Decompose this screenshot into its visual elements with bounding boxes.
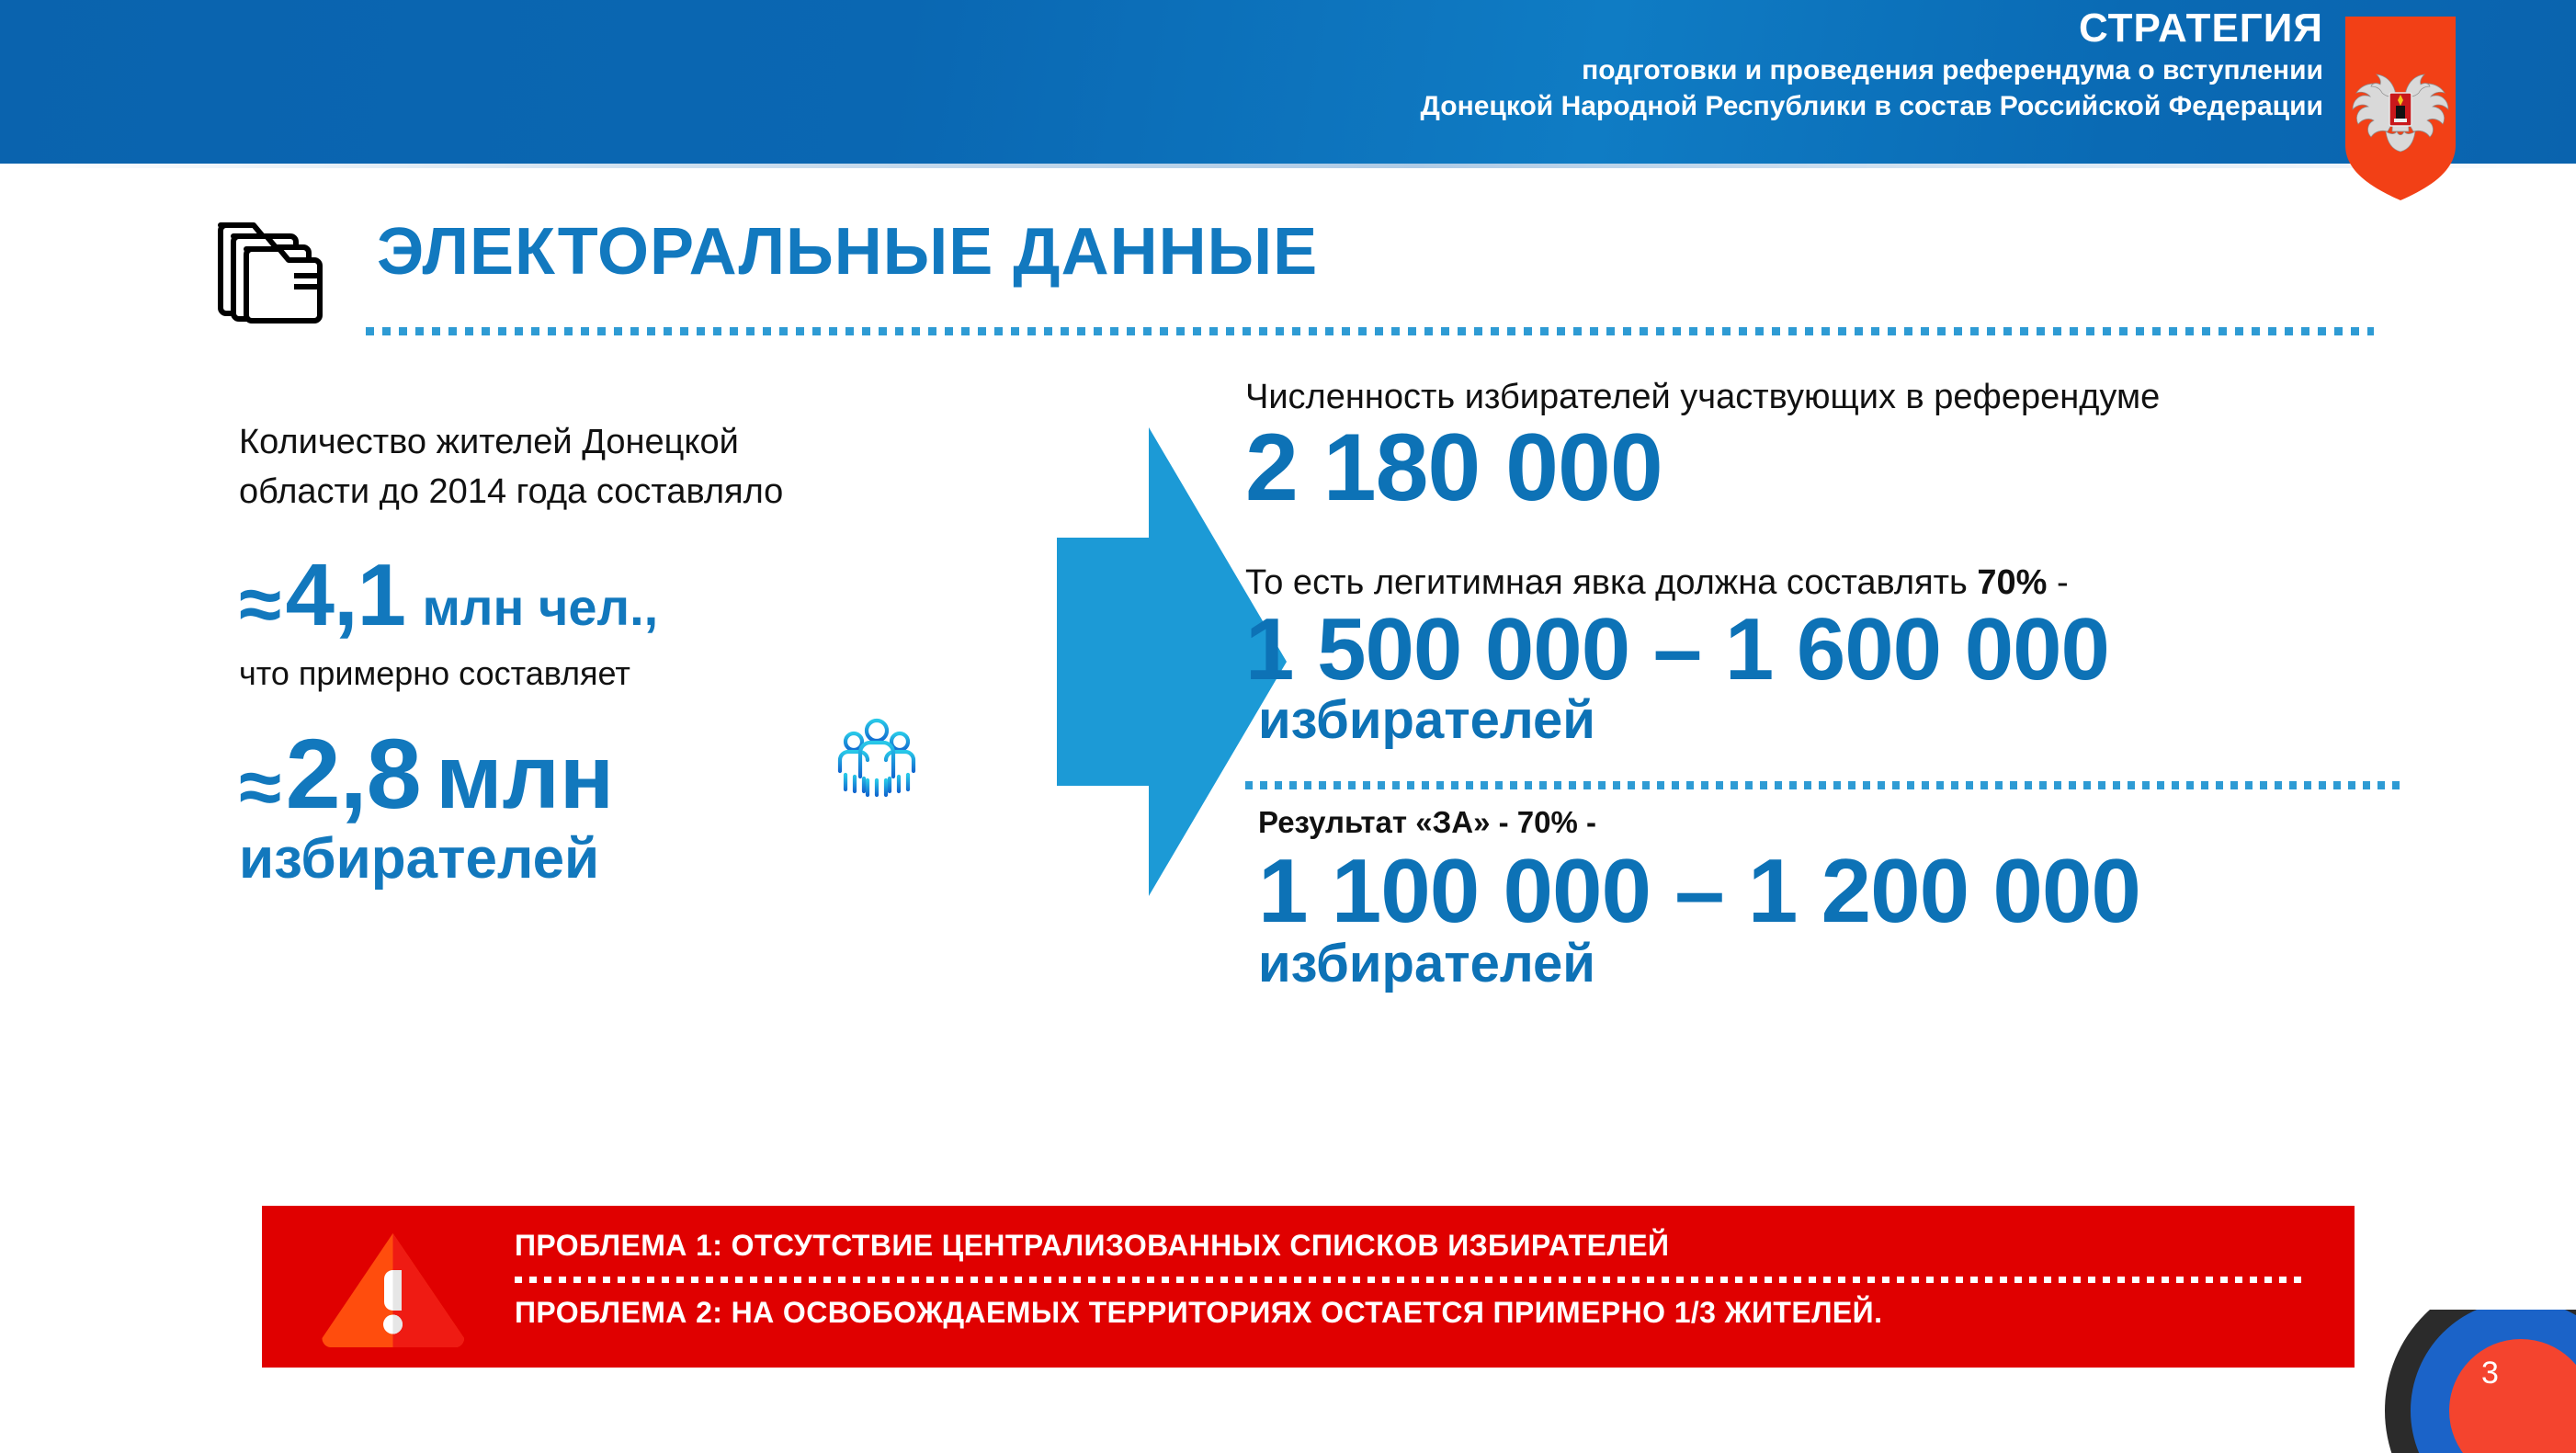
left-mid-text: что примерно составляет: [239, 653, 1011, 696]
result-za-label: Результат «ЗА» - 70% -: [1245, 804, 2412, 841]
problems-banner-body: ПРОБЛЕМА 1: ОТСУТСТВИЕ ЦЕНТРАЛИЗОВАННЫХ …: [515, 1226, 2316, 1333]
header-underline: [0, 164, 2576, 168]
right-block-3: Результат «ЗА» - 70% - 1 100 000 – 1 200…: [1245, 804, 2412, 993]
title-divider: [366, 327, 2374, 335]
left-column: Количество жителей Донецкой области до 2…: [239, 418, 1011, 891]
page-number-badge: [2383, 1310, 2576, 1453]
header-text-block: СТРАТЕГИЯ подготовки и проведения рефере…: [1037, 7, 2323, 124]
header-subtitle-line2: Донецкой Народной Республики в состав Ро…: [1037, 89, 2323, 124]
approx-symbol: ≈: [239, 561, 281, 647]
turnout-total-label: Численность избирателей участвующих в ре…: [1245, 377, 2412, 419]
header-subtitle-line1: подготовки и проведения референдума о вс…: [1037, 53, 2323, 88]
legit-turnout-label-prefix: То есть легитимная явка должна составлят…: [1245, 563, 1977, 602]
right-column: Численность избирателей участвующих в ре…: [1245, 377, 2412, 993]
dnr-coat-of-arms-icon: [2345, 17, 2456, 200]
problems-banner: ПРОБЛЕМА 1: ОТСУТСТВИЕ ЦЕНТРАЛИЗОВАННЫХ …: [262, 1206, 2355, 1368]
three-people-icon: [834, 714, 919, 799]
legit-turnout-value: 1 500 000 – 1 600 000: [1245, 601, 2412, 698]
population-stat: ≈ 4,1 млн чел.,: [239, 545, 1011, 649]
right-block-2: То есть легитимная явка должна составлят…: [1245, 562, 2412, 750]
page-title: ЭЛЕКТОРАЛЬНЫЕ ДАННЫЕ: [377, 214, 1318, 289]
voters-value: 2,8: [286, 718, 421, 829]
folders-icon: [213, 209, 325, 328]
population-unit: млн чел.,: [422, 578, 658, 636]
spacer-1: [1245, 520, 2412, 562]
turnout-total-value: 2 180 000: [1245, 415, 2412, 520]
legit-turnout-label-suffix: -: [2047, 563, 2068, 602]
left-lead-line2: области до 2014 года составляло: [239, 468, 1011, 517]
approx-symbol-2: ≈: [239, 744, 281, 830]
header-title: СТРАТЕГИЯ: [1037, 7, 2323, 50]
right-column-divider: [1245, 781, 2405, 789]
warning-triangle-icon: [317, 1230, 469, 1347]
problem-2-text: ПРОБЛЕМА 2: НА ОСВОБОЖДАЕМЫХ ТЕРРИТОРИЯХ…: [515, 1293, 2316, 1333]
legit-turnout-percent: 70%: [1977, 563, 2047, 602]
left-lead-text: Количество жителей Донецкой области до 2…: [239, 418, 1011, 517]
problem-1-text: ПРОБЛЕМА 1: ОТСУТСТВИЕ ЦЕНТРАЛИЗОВАННЫХ …: [515, 1226, 2316, 1266]
page-number: 3: [2481, 1356, 2499, 1391]
slide-title-row: ЭЛЕКТОРАЛЬНЫЕ ДАННЫЕ: [0, 198, 2576, 335]
right-block-1: Численность избирателей участвующих в ре…: [1245, 377, 2412, 520]
legit-turnout-label: То есть легитимная явка должна составлят…: [1245, 562, 2412, 605]
left-voters-label: избирателей: [239, 828, 1011, 891]
banner-divider: [515, 1277, 2307, 1283]
result-za-units: избирателей: [1245, 936, 2412, 993]
left-lead-line1: Количество жителей Донецкой: [239, 418, 1011, 468]
population-value: 4,1: [286, 546, 405, 644]
header-subtitle: подготовки и проведения референдума о вс…: [1037, 53, 2323, 124]
voters-stat: ≈ 2,8 млн: [239, 716, 1011, 832]
voters-unit: млн: [436, 726, 614, 827]
result-za-value: 1 100 000 – 1 200 000: [1245, 842, 2412, 941]
legit-turnout-units: избирателей: [1245, 692, 2412, 750]
